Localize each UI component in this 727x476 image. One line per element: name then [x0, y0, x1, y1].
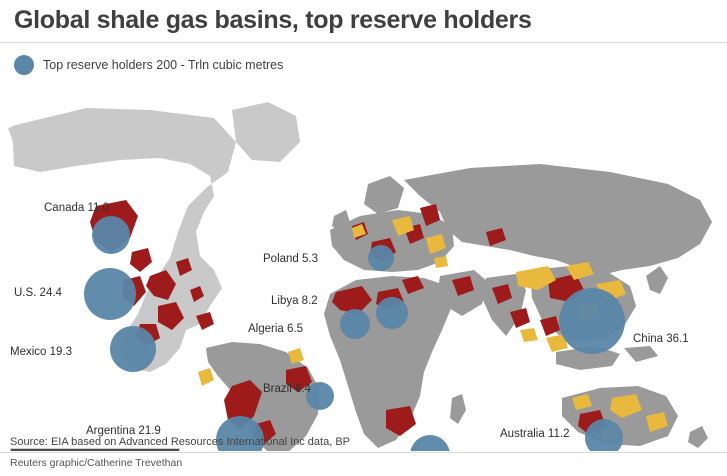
basin-legend: Assessed basins With resource estimate W… — [10, 448, 180, 451]
bubble-label-algeria: Algeria 6.5 — [248, 323, 303, 335]
credit-note: Reuters graphic/Catherine Trevethan — [10, 457, 182, 469]
bubble-legend: Top reserve holders 200 - Trln cubic met… — [14, 52, 283, 78]
bubble-libya — [376, 297, 408, 329]
bubble-label-mexico: Mexico 19.3 — [10, 346, 72, 358]
bubble-label-poland: Poland 5.3 — [263, 253, 318, 265]
bubble-label-australia: Australia 11.2 — [500, 428, 569, 440]
basin-legend-title: Assessed basins — [11, 449, 179, 451]
footer-divider — [0, 452, 727, 453]
bubble-label-u-s: U.S. 24.4 — [14, 287, 62, 299]
world-map: Canada 11.0U.S. 24.4Mexico 19.3Argentina… — [0, 80, 727, 451]
bubble-mexico — [110, 326, 156, 372]
header-divider — [0, 42, 727, 43]
bubble-algeria — [340, 309, 370, 339]
bubble-label-libya: Libya 8.2 — [271, 295, 318, 307]
bubble-label-china: China 36.1 — [633, 333, 689, 345]
world-map-svg — [0, 80, 727, 451]
source-note: Source: EIA based on Advanced Resources … — [10, 436, 350, 448]
bubble-china — [559, 288, 625, 354]
bubble-legend-label: Top reserve holders 200 - Trln cubic met… — [43, 58, 283, 72]
bubble-label-canada: Canada 11.0 — [44, 202, 109, 214]
bubble-label-brazil: Brazil 6.4 — [263, 383, 311, 395]
bubble-australia — [585, 419, 623, 451]
page-title: Global shale gas basins, top reserve hol… — [14, 6, 532, 35]
infographic-root: Global shale gas basins, top reserve hol… — [0, 0, 727, 476]
bubble-canada — [92, 216, 130, 254]
bubble-u-s — [84, 268, 136, 320]
bubble-legend-icon — [14, 55, 34, 75]
bubble-poland — [368, 245, 394, 271]
